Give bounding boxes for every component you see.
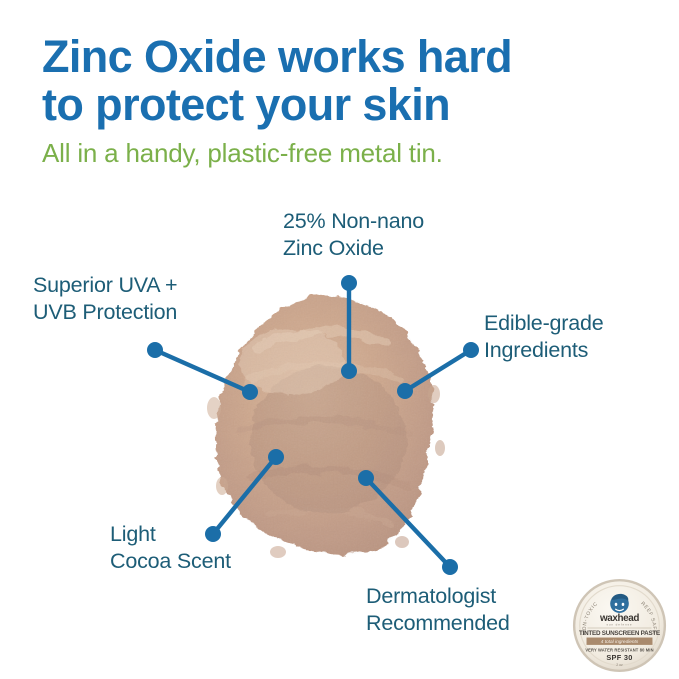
page-subtitle: All in a handy, plastic-free metal tin. bbox=[42, 138, 642, 169]
sunscreen-paste-swatch bbox=[196, 290, 456, 560]
tin-water-resistance: VERY WATER RESISTANT 80 MIN bbox=[585, 647, 653, 652]
tin-product-name: TINTED SUNSCREEN PASTE bbox=[579, 630, 660, 637]
callout-label-uva-uvb: Superior UVA + UVB Protection bbox=[33, 272, 177, 326]
headline-line-2: to protect your skin bbox=[42, 81, 642, 129]
callout-cocoa-scent-line-2: Cocoa Scent bbox=[110, 548, 231, 575]
callout-label-edible-grade: Edible-grade Ingredients bbox=[484, 310, 604, 364]
callout-label-cocoa-scent: Light Cocoa Scent bbox=[110, 521, 231, 575]
callout-edible-grade-line-2: Ingredients bbox=[484, 337, 604, 364]
tin-spf-value: SPF 30 bbox=[606, 653, 632, 662]
page-title: Zinc Oxide works hard to protect your sk… bbox=[42, 33, 642, 129]
tin-net-weight: 2 oz bbox=[616, 663, 623, 667]
tin-ingredients-band: 4 total ingredients bbox=[601, 639, 639, 645]
infographic-page: Zinc Oxide works hard to protect your sk… bbox=[0, 0, 679, 679]
callout-label-zinc-oxide: 25% Non-nano Zinc Oxide bbox=[283, 208, 424, 262]
callout-cocoa-scent-line-1: Light bbox=[110, 521, 231, 548]
callout-uva-uvb-line-2: UVB Protection bbox=[33, 299, 177, 326]
headline-line-1: Zinc Oxide works hard bbox=[42, 31, 512, 82]
product-tin-badge: NON-TOXIC REEF SAFE waxhead sun defense … bbox=[571, 577, 668, 674]
callout-dermatologist-line-1: Dermatologist bbox=[366, 583, 510, 610]
tin-brand-tagline: sun defense bbox=[607, 622, 633, 626]
callout-dermatologist-line-2: Recommended bbox=[366, 610, 510, 637]
callout-label-dermatologist: Dermatologist Recommended bbox=[366, 583, 510, 637]
callout-zinc-oxide-line-1: 25% Non-nano bbox=[283, 208, 424, 235]
callout-zinc-oxide-line-2: Zinc Oxide bbox=[283, 235, 424, 262]
callout-uva-uvb-line-1: Superior UVA + bbox=[33, 272, 177, 299]
callout-edible-grade-line-1: Edible-grade bbox=[484, 310, 604, 337]
